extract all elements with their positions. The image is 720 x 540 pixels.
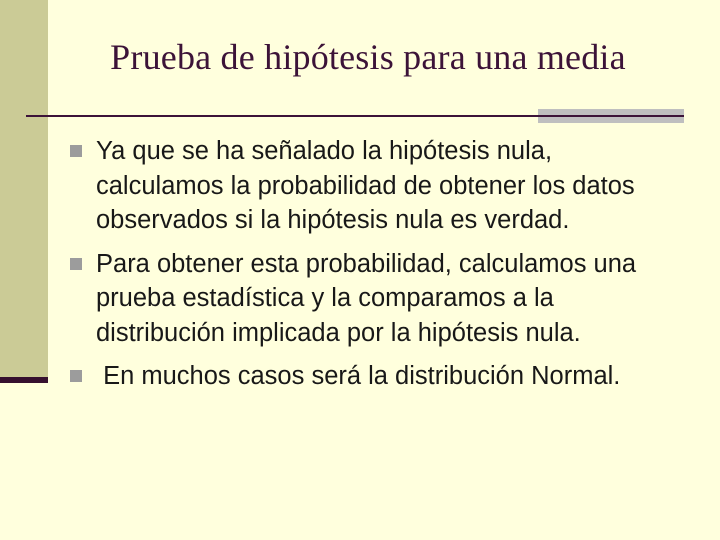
left-decorative-band xyxy=(0,0,48,378)
list-item: Ya que se ha señalado la hipótesis nula,… xyxy=(70,134,670,238)
square-bullet-icon xyxy=(70,145,82,157)
bullet-text: Ya que se ha señalado la hipótesis nula,… xyxy=(96,134,670,238)
slide-canvas: Prueba de hipótesis para una media Ya qu… xyxy=(0,0,720,540)
slide-body: Ya que se ha señalado la hipótesis nula,… xyxy=(70,134,670,403)
title-underline-rule xyxy=(26,115,684,117)
list-item: Para obtener esta probabilidad, calculam… xyxy=(70,247,670,351)
square-bullet-icon xyxy=(70,258,82,270)
square-bullet-icon xyxy=(70,370,82,382)
bullet-text: Para obtener esta probabilidad, calculam… xyxy=(96,247,670,351)
bullet-text: En muchos casos será la distribución Nor… xyxy=(96,359,670,394)
slide-title: Prueba de hipótesis para una media xyxy=(48,36,688,78)
list-item: En muchos casos será la distribución Nor… xyxy=(70,359,670,394)
left-band-bottom-rule xyxy=(0,377,48,383)
